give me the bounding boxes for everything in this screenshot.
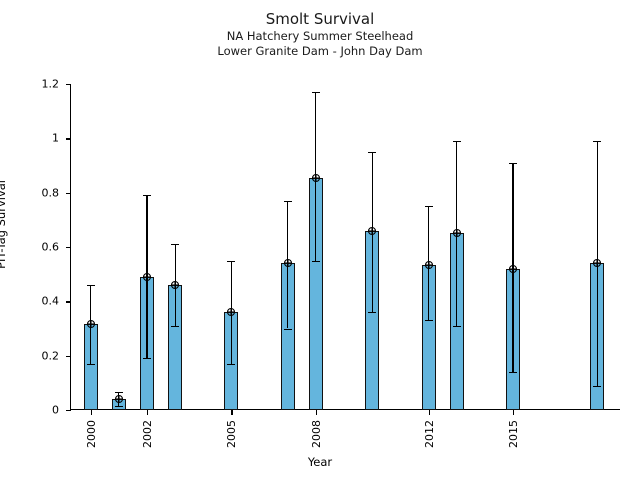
data-point-marker-icon — [171, 281, 180, 290]
data-point-marker-icon — [593, 259, 602, 268]
chart-subtitle-line-2: Lower Granite Dam - John Day Dam — [0, 44, 640, 59]
y-axis-tick — [66, 356, 71, 357]
error-bar-cap-upper — [171, 244, 179, 245]
x-axis-tick-label: 2002 — [141, 420, 154, 448]
error-bar-cap-lower — [312, 261, 320, 262]
y-axis-tick — [66, 410, 71, 411]
error-bar-cap-upper — [143, 195, 151, 196]
x-axis-tick-label: 2000 — [85, 420, 98, 448]
data-point-marker-icon — [114, 395, 123, 404]
x-axis-tick — [147, 410, 148, 415]
chart-figure: Smolt Survival NA Hatchery Summer Steelh… — [0, 0, 640, 480]
error-bar-cap-upper — [115, 392, 123, 393]
error-bar-cap-lower — [115, 406, 123, 407]
x-axis-tick — [513, 410, 514, 415]
x-axis-tick — [429, 410, 430, 415]
error-bar-cap-upper — [227, 261, 235, 262]
y-axis-tick-label: 1 — [52, 132, 59, 145]
error-bar-cap-upper — [453, 141, 461, 142]
error-bar-cap-lower — [143, 358, 151, 359]
error-bar-cap-upper — [425, 206, 433, 207]
x-axis-tick-label: 2012 — [423, 420, 436, 448]
data-point-marker-icon — [452, 229, 461, 238]
y-axis-tick-label: 1.2 — [42, 78, 60, 91]
error-bar-cap-lower — [453, 326, 461, 327]
data-point-marker-icon — [143, 272, 152, 281]
y-axis-tick-label: 0 — [52, 404, 59, 417]
error-bar-cap-lower — [368, 312, 376, 313]
data-point-marker-icon — [86, 320, 95, 329]
error-bar-cap-lower — [227, 364, 235, 365]
error-bar-cap-upper — [284, 201, 292, 202]
data-point-marker-icon — [368, 226, 377, 235]
data-point-marker-icon — [227, 308, 236, 317]
error-bar-cap-lower — [284, 329, 292, 330]
y-axis-tick-label: 0.8 — [42, 186, 60, 199]
y-axis-tick — [66, 301, 71, 302]
error-bar-cap-lower — [509, 372, 517, 373]
x-axis-tick — [316, 410, 317, 415]
x-axis-tick — [231, 410, 232, 415]
data-point-marker-icon — [509, 264, 518, 273]
error-bar-cap-upper — [593, 141, 601, 142]
title-block: Smolt Survival NA Hatchery Summer Steelh… — [0, 10, 640, 59]
error-bar-cap-lower — [171, 326, 179, 327]
error-bar-cap-upper — [87, 285, 95, 286]
x-axis-tick-label: 2008 — [310, 420, 323, 448]
error-bar-cap-lower — [425, 320, 433, 321]
x-axis-tick-label: 2005 — [225, 420, 238, 448]
y-axis-tick — [66, 84, 71, 85]
error-bar-cap-lower — [87, 364, 95, 365]
y-axis-label: PIT-Tag Survival — [0, 180, 8, 269]
x-axis-tick — [91, 410, 92, 415]
data-point-marker-icon — [283, 259, 292, 268]
y-axis-tick — [66, 138, 71, 139]
chart-subtitle-line-1: NA Hatchery Summer Steelhead — [0, 29, 640, 44]
error-bar-cap-upper — [312, 92, 320, 93]
error-bar-cap-upper — [368, 152, 376, 153]
x-axis-label: Year — [0, 455, 640, 469]
error-bar-cap-lower — [593, 386, 601, 387]
plot-area: 00.20.40.60.811.220002002200520082012201… — [71, 84, 620, 410]
x-axis-tick-label: 2015 — [507, 420, 520, 448]
data-point-marker-icon — [311, 173, 320, 182]
error-bar-cap-upper — [509, 163, 517, 164]
chart-title: Smolt Survival — [0, 10, 640, 29]
data-point-marker-icon — [424, 260, 433, 269]
y-axis-tick-label: 0.2 — [42, 349, 60, 362]
y-axis-tick-label: 0.6 — [42, 241, 60, 254]
y-axis-tick — [66, 193, 71, 194]
y-axis-tick — [66, 247, 71, 248]
y-axis-tick-label: 0.4 — [42, 295, 60, 308]
